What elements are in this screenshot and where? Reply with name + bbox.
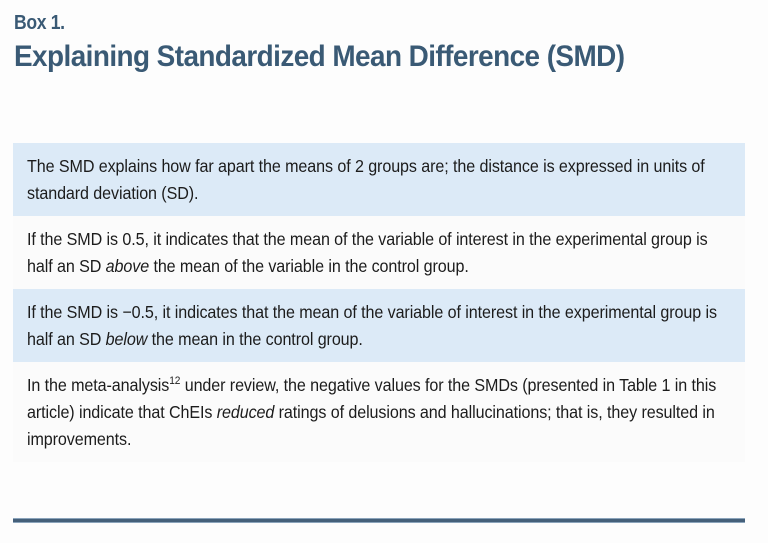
box-label: Box 1.	[14, 12, 665, 34]
box-row-text: In the meta-analysis12 under review, the…	[27, 372, 730, 453]
box-row: In the meta-analysis12 under review, the…	[13, 362, 745, 462]
box-row: The SMD explains how far apart the means…	[13, 143, 745, 216]
emphasis-text: above	[106, 256, 149, 276]
bottom-rule-divider	[13, 518, 745, 523]
box-header: Box 1. Explaining Standardized Mean Diff…	[0, 0, 768, 74]
reference-superscript: 12	[169, 375, 180, 387]
body-text: The SMD explains how far apart the means…	[27, 156, 705, 203]
box-row: If the SMD is −0.5, it indicates that th…	[13, 289, 745, 362]
box-row-text: If the SMD is −0.5, it indicates that th…	[27, 299, 730, 353]
emphasis-text: reduced	[217, 402, 275, 422]
box-row-text: The SMD explains how far apart the means…	[27, 153, 730, 207]
box-row-text: If the SMD is 0.5, it indicates that the…	[27, 226, 730, 280]
emphasis-text: below	[106, 329, 148, 349]
body-text: the mean in the control group.	[147, 329, 363, 349]
body-text: the mean of the variable in the control …	[149, 256, 469, 276]
box-title: Explaining Standardized Mean Difference …	[14, 40, 702, 74]
box-body-rows: The SMD explains how far apart the means…	[13, 143, 745, 462]
box-row: If the SMD is 0.5, it indicates that the…	[13, 216, 745, 289]
box-figure: Box 1. Explaining Standardized Mean Diff…	[0, 0, 768, 543]
body-text: In the meta-analysis	[27, 375, 169, 395]
